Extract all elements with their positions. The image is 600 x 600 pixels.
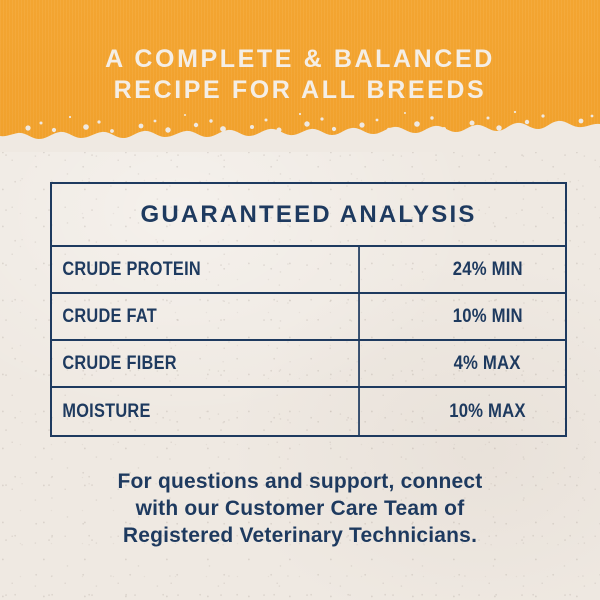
row-label: CRUDE FIBER bbox=[52, 341, 360, 386]
torn-paint-edge bbox=[0, 104, 600, 152]
row-label: MOISTURE bbox=[52, 388, 360, 435]
table-row: CRUDE PROTEIN 24% MIN bbox=[52, 247, 565, 294]
row-label: CRUDE PROTEIN bbox=[52, 247, 360, 292]
headline-line-1: A COMPLETE & BALANCED bbox=[105, 45, 495, 73]
support-line-1: For questions and support, connect bbox=[40, 468, 560, 495]
row-label: CRUDE FAT bbox=[52, 294, 360, 339]
row-value: 10% MAX bbox=[410, 388, 565, 435]
packaging-panel: A COMPLETE & BALANCED RECIPE FOR ALL BRE… bbox=[0, 0, 600, 600]
row-value: 10% MIN bbox=[410, 294, 565, 339]
guaranteed-analysis-table: GUARANTEED ANALYSIS CRUDE PROTEIN 24% MI… bbox=[50, 182, 567, 437]
table-title: GUARANTEED ANALYSIS bbox=[52, 184, 565, 247]
row-value: 4% MAX bbox=[410, 341, 565, 386]
table-row: CRUDE FAT 10% MIN bbox=[52, 294, 565, 341]
headline: A COMPLETE & BALANCED RECIPE FOR ALL BRE… bbox=[0, 44, 600, 106]
row-value: 24% MIN bbox=[410, 247, 565, 292]
support-line-2: with our Customer Care Team of bbox=[40, 495, 560, 522]
headline-line-2: RECIPE FOR ALL BREEDS bbox=[0, 75, 600, 106]
support-message: For questions and support, connect with … bbox=[40, 468, 560, 549]
table-row: CRUDE FIBER 4% MAX bbox=[52, 341, 565, 388]
support-line-3: Registered Veterinary Technicians. bbox=[40, 522, 560, 549]
table-row: MOISTURE 10% MAX bbox=[52, 388, 565, 435]
